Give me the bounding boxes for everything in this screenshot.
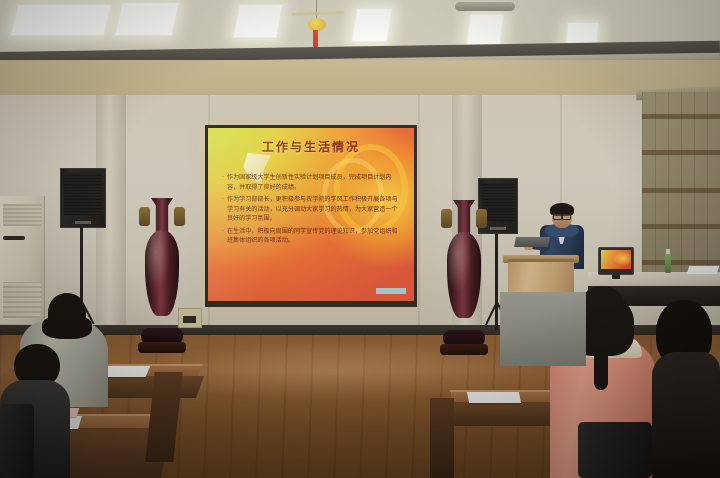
- vase-body-right: [447, 232, 481, 318]
- stacked-papers: [687, 266, 720, 274]
- slide-bullet-text: 作为学习部部长，更积极参与农学院的学风工作积极开展各项与学习有关的活动，以充分调…: [227, 195, 402, 224]
- audience-person-right-edge: [652, 300, 720, 478]
- audience-ponytail: [594, 346, 608, 390]
- bullet-marker-icon: ·: [222, 173, 224, 192]
- speaker-grille-left: [64, 173, 102, 215]
- projection-screen: 工作与生活情况 ·作为国家级大学生创新性实验计划项目成员，完成项目计划内容，并取…: [205, 125, 417, 307]
- conference-room-photo: 工作与生活情况 ·作为国家级大学生创新性实验计划项目成员，完成项目计划内容，并取…: [0, 0, 720, 478]
- vase-body-left: [145, 230, 179, 316]
- ceiling-light-4: [351, 8, 392, 42]
- vase-plinth-left: [138, 342, 186, 353]
- desk-paper-3: [467, 392, 521, 403]
- slide-footer-tag: [376, 288, 406, 294]
- vase-plinth-right: [440, 344, 488, 355]
- ceiling-light-3: [233, 4, 284, 38]
- audience-coat-right-edge: [652, 352, 720, 478]
- chair-back-left: [0, 404, 34, 478]
- eyeglasses-icon: [553, 214, 571, 218]
- monitor-screen: [601, 250, 631, 269]
- presenter-laptop: [514, 237, 550, 247]
- loudspeaker-left: [60, 168, 106, 228]
- decorative-vase-right: [434, 200, 494, 346]
- bullet-marker-icon: ·: [222, 227, 224, 246]
- slide-title: 工作与生活情况: [208, 138, 414, 155]
- slide-bullet-text: 作为国家级大学生创新性实验计划项目成员，完成项目计划内容，并取得了良好的成绩。: [227, 173, 402, 192]
- slide-bullet-2: ·作为学习部部长，更积极参与农学院的学风工作积极开展各项与学习有关的活动，以充分…: [222, 195, 402, 224]
- slide-bullet-3: ·在生活中，积极向周围的同学宣传党的理论知识，参加党组织和班集体组织的各项活动。: [222, 227, 402, 246]
- ceiling-light-5: [466, 14, 504, 46]
- confidence-monitor: [598, 247, 634, 275]
- slide-bullet-text: 在生活中，积极向周围的同学宣传党的理论知识，参加党组织和班集体组织的各项活动。: [227, 227, 402, 246]
- chair-back-center: [578, 422, 652, 478]
- monitor-stand: [612, 274, 620, 279]
- decorative-vase-left: [132, 198, 192, 344]
- wall-divider-panel: [500, 292, 586, 366]
- ceiling-light-2: [114, 2, 180, 36]
- presentation-slide: 工作与生活情况 ·作为国家级大学生创新性实验计划项目成员，完成项目计划内容，并取…: [208, 128, 414, 301]
- desk-partition-right: [430, 398, 454, 478]
- ceiling-air-duct: [455, 2, 515, 11]
- bottle-cap: [666, 249, 670, 254]
- wall-seam-2: [418, 95, 420, 330]
- ceiling-light-1: [10, 4, 112, 36]
- audience-hair-left-front: [42, 315, 92, 339]
- slide-bullet-1: ·作为国家级大学生创新性实验计划项目成员，完成项目计划内容，并取得了良好的成绩。: [222, 173, 402, 192]
- water-bottle: [665, 253, 671, 273]
- slide-bullet-list: ·作为国家级大学生创新性实验计划项目成员，完成项目计划内容，并取得了良好的成绩。…: [222, 173, 402, 249]
- bullet-marker-icon: ·: [222, 195, 224, 224]
- speaker-brand-left: [75, 221, 91, 224]
